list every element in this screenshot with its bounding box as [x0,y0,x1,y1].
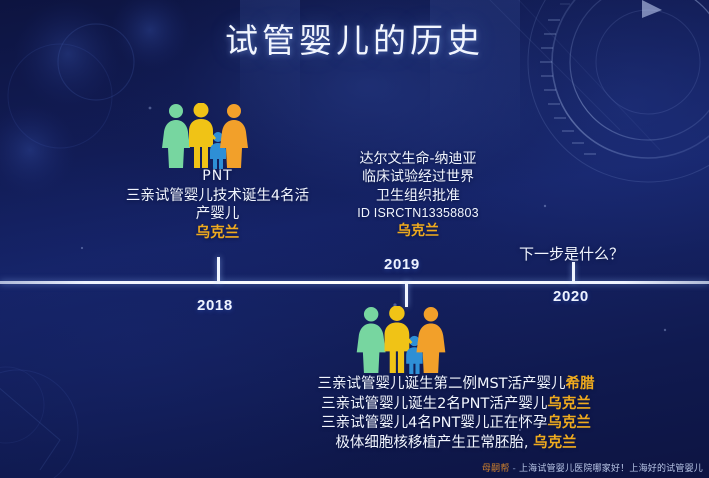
timeline-tick-2019 [405,281,408,307]
next-step-question: 下一步是什么？ [519,243,624,264]
milestone-row-country: 乌克兰 [547,415,591,431]
milestone-block-2019-top: 达尔文生命-纳迪亚 临床试验经过世界 卫生组织批准 ID ISRCTN13358… [328,150,508,240]
milestone-row-text: 三亲试管婴儿诞生2名PNT活产婴儿 [321,396,547,412]
slide-canvas: 试管婴儿的历史 [0,0,709,478]
milestone-2019top-country: 乌克兰 [328,222,508,240]
milestone-row-text: 三亲试管婴儿诞生第二例MST活产婴儿 [317,376,565,392]
milestone-row: 三亲试管婴儿诞生第二例MST活产婴儿希腊 [288,375,624,395]
watermark-brand: 母嗣帮 [482,464,510,474]
milestone-2019top-line-1: 临床试验经过世界 [328,168,508,186]
milestone-row-country: 希腊 [566,376,595,392]
timeline-tick-2018 [217,257,220,283]
timeline-year-2020: 2020 [553,288,589,305]
timeline-axis [0,281,709,284]
milestone-block-2019-bottom: 三亲试管婴儿诞生第二例MST活产婴儿希腊 三亲试管婴儿诞生2名PNT活产婴儿乌克… [288,375,624,454]
family-of-four-icon [160,103,248,174]
milestone-2019top-trial-id: ID ISRCTN13358803 [328,205,508,222]
milestone-2018-country: 乌克兰 [105,224,330,243]
milestone-row: 三亲试管婴儿诞生2名PNT活产婴儿乌克兰 [288,395,624,415]
milestone-row: 三亲试管婴儿4名PNT婴儿正在怀孕乌克兰 [288,414,624,434]
milestone-row-country: 乌克兰 [533,435,577,451]
page-title: 试管婴儿的历史 [0,14,709,62]
timeline-year-2018: 2018 [197,297,233,314]
watermark-text: 上海试管婴儿医院哪家好！上海好的试管婴儿 [519,464,703,474]
milestone-row: 极体细胞核移植产生正常胚胎, 乌克兰 [288,434,624,454]
milestone-2018-line-1: 三亲试管婴儿技术诞生4名活 [105,187,330,206]
watermark: 母嗣帮-上海试管婴儿医院哪家好！上海好的试管婴儿 [482,461,703,474]
milestone-2018-line-2: 产婴儿 [105,205,330,224]
milestone-row-text: 极体细胞核移植产生正常胚胎, [335,435,533,451]
milestone-row-text: 三亲试管婴儿4名PNT婴儿正在怀孕 [321,415,547,431]
milestone-2019top-line-2: 卫生组织批准 [328,187,508,205]
milestone-block-2018: PNT 三亲试管婴儿技术诞生4名活 产婴儿 乌克兰 [105,168,330,243]
timeline-tick-2020 [572,262,575,283]
milestone-2018-line-0: PNT [105,168,330,186]
family-of-four-icon [352,306,448,379]
timeline-year-2019: 2019 [384,256,420,273]
milestone-row-country: 乌克兰 [547,396,591,412]
watermark-separator: - [513,464,516,474]
milestone-2019top-line-0: 达尔文生命-纳迪亚 [328,150,508,168]
